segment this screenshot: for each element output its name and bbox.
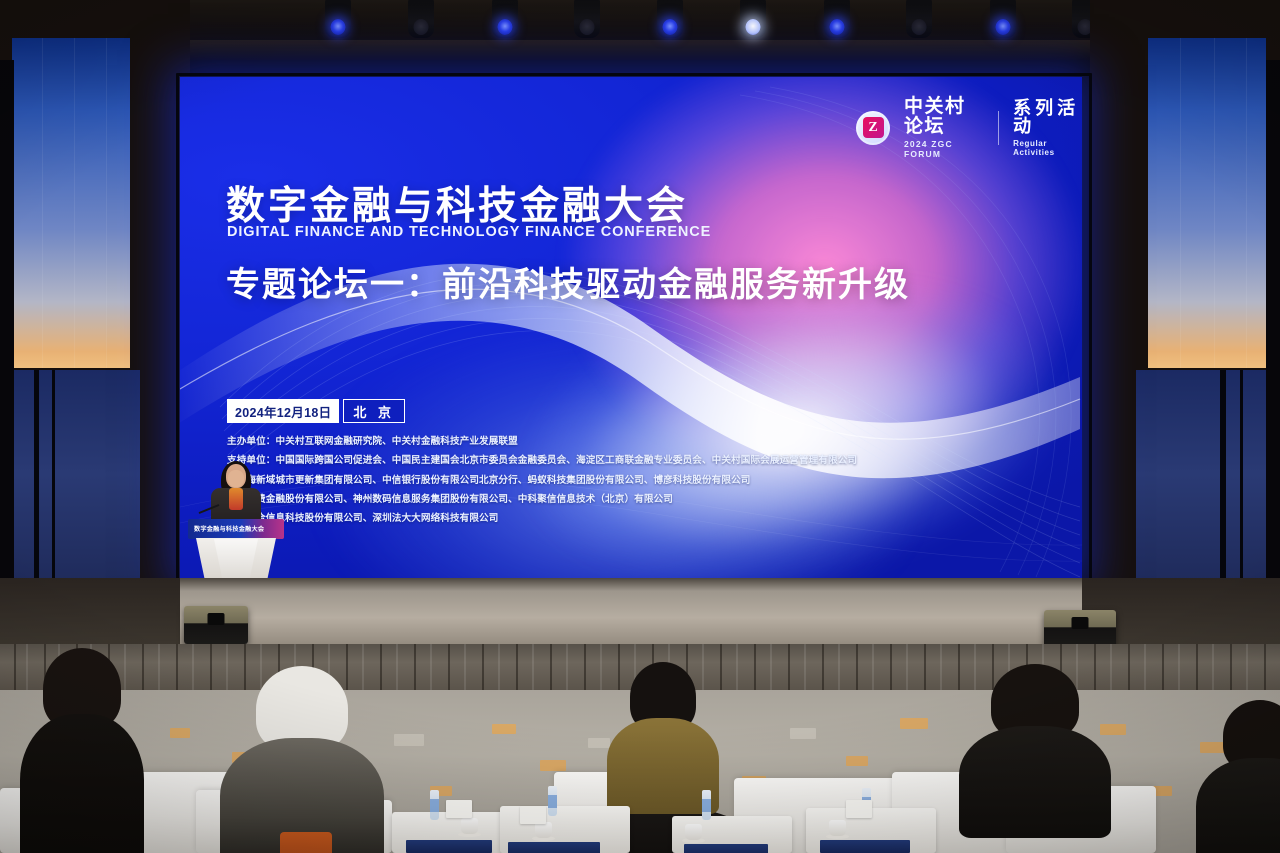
table-info-card bbox=[820, 840, 910, 853]
series-name-cn: 系列活动 bbox=[1013, 99, 1082, 137]
organizer-line: 北京海新域城市更新集团有限公司、中信银行股份有限公司北京分行、蚂蚁科技集团股份有… bbox=[227, 476, 857, 486]
lamp-lens-icon bbox=[912, 19, 927, 35]
right-wall-dark-strip bbox=[1266, 60, 1280, 633]
lamp-lens-icon bbox=[663, 19, 678, 35]
audience-member bbox=[608, 662, 718, 782]
stage-light bbox=[906, 0, 932, 38]
lamp-lens-icon bbox=[580, 19, 595, 35]
audience-member bbox=[222, 666, 382, 853]
podium-banner-text: 数字金融与科技金融大会 bbox=[194, 524, 264, 533]
seat-name-card bbox=[520, 806, 546, 824]
conference-stage-photo: Z 中关村论坛 2024 ZGC FORUM 系列活动 Regular Acti… bbox=[0, 0, 1280, 853]
audience-member bbox=[1200, 700, 1280, 853]
audience-torso bbox=[1196, 758, 1280, 853]
stage-monitor-speaker-left bbox=[184, 606, 248, 644]
lamp-lens-icon bbox=[746, 19, 761, 35]
speaker-scarf bbox=[229, 488, 243, 510]
forum-logo-text-block: 中关村论坛 2024 ZGC FORUM bbox=[904, 97, 984, 159]
water-bottle bbox=[702, 790, 711, 820]
led-stage-screen: Z 中关村论坛 2024 ZGC FORUM 系列活动 Regular Acti… bbox=[180, 77, 1082, 578]
series-text-block: 系列活动 Regular Activities bbox=[1013, 99, 1082, 158]
zgc-forum-logo-icon: Z bbox=[856, 111, 890, 145]
organizer-list: 主办单位：中关村互联网金融研究院、中关村金融科技产业发展联盟 支持单位：中国国际… bbox=[227, 437, 857, 534]
forum-name-cn: 中关村论坛 bbox=[904, 97, 984, 137]
audience-member bbox=[22, 648, 142, 853]
water-bottle bbox=[548, 786, 557, 816]
stage-light bbox=[492, 0, 518, 38]
lamp-lens-icon bbox=[498, 19, 513, 35]
audience-torso bbox=[959, 726, 1111, 838]
stage-light bbox=[657, 0, 683, 38]
seat-name-card bbox=[446, 800, 472, 818]
table-info-card bbox=[508, 842, 600, 853]
left-wall-dark-strip bbox=[0, 60, 14, 633]
audience-member bbox=[960, 664, 1110, 814]
organizer-line: 上海合合信息科技股份有限公司、深圳法大大网络科技有限公司 bbox=[227, 514, 857, 524]
logo-mark-letter: Z bbox=[863, 117, 884, 138]
water-bottle bbox=[430, 790, 439, 820]
audience-torso bbox=[20, 714, 144, 853]
right-wall-panel-upper bbox=[1148, 38, 1266, 368]
tea-cup bbox=[535, 822, 552, 838]
date-location-badge: 2024年12月18日 北 京 bbox=[227, 399, 405, 423]
stage-light bbox=[824, 0, 850, 38]
conference-title-cn: 数字金融与科技金融大会 bbox=[226, 175, 688, 231]
lamp-lens-icon bbox=[331, 19, 346, 35]
lamp-lens-icon bbox=[830, 19, 845, 35]
left-wall-panel-upper bbox=[12, 38, 130, 368]
stage-light bbox=[408, 0, 434, 38]
forum-logo-lockup: Z 中关村论坛 2024 ZGC FORUM 系列活动 Regular Acti… bbox=[856, 97, 1082, 159]
conference-title-en: DIGITAL FINANCE AND TECHNOLOGY FINANCE C… bbox=[227, 224, 711, 240]
stage-light bbox=[990, 0, 1016, 38]
series-name-en: Regular Activities bbox=[1013, 139, 1082, 157]
tea-cup bbox=[461, 818, 478, 834]
forum-name-en: 2024 ZGC FORUM bbox=[904, 139, 984, 159]
audience-scarf bbox=[280, 832, 332, 853]
speaker-face bbox=[228, 470, 244, 487]
logo-divider bbox=[998, 111, 999, 145]
stage-monitor-speaker-right bbox=[1044, 610, 1116, 648]
table-info-card bbox=[684, 844, 768, 853]
event-date: 2024年12月18日 bbox=[227, 399, 339, 423]
speaker-port bbox=[208, 613, 225, 625]
event-city: 北 京 bbox=[343, 399, 405, 423]
stage-light bbox=[574, 0, 600, 38]
lighting-truss bbox=[0, 40, 1280, 60]
lamp-lens-icon bbox=[996, 19, 1011, 35]
table-info-card bbox=[406, 840, 492, 853]
organizer-line: 主办单位：中关村互联网金融研究院、中关村金融科技产业发展联盟 bbox=[227, 437, 857, 447]
tea-cup bbox=[685, 824, 702, 840]
organizer-line: 马上消费金融股份有限公司、神州数码信息服务集团股份有限公司、中科聚信信息技术（北… bbox=[227, 495, 857, 505]
lamp-lens-icon bbox=[414, 19, 429, 35]
seat-name-card bbox=[846, 800, 872, 818]
tea-cup bbox=[829, 820, 846, 836]
organizer-line: 支持单位：中国国际跨国公司促进会、中国民主建国会北京市委员会金融委员会、海淀区工… bbox=[227, 456, 857, 466]
stage-light bbox=[740, 0, 766, 38]
speaker-port bbox=[1072, 617, 1089, 629]
stage-light bbox=[325, 0, 351, 38]
speaker-presenter bbox=[207, 464, 265, 522]
forum-session-subtitle: 专题论坛一：前沿科技驱动金融服务新升级 bbox=[226, 257, 910, 306]
podium-banner: 数字金融与科技金融大会 bbox=[188, 519, 284, 539]
stage-side-left bbox=[0, 578, 180, 650]
